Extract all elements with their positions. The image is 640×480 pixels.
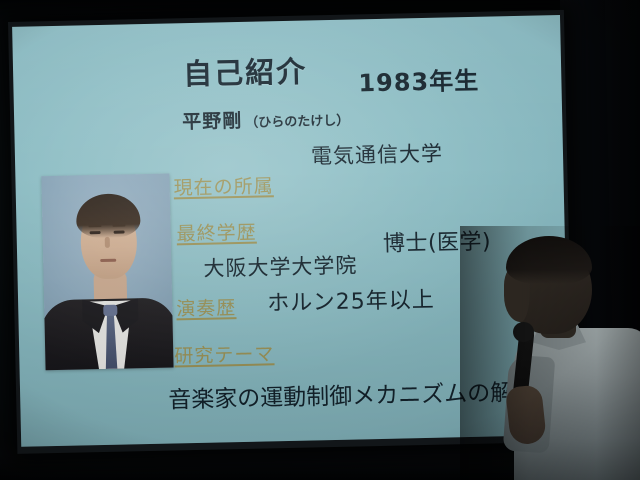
microphone-head: [513, 322, 534, 342]
education-label: 最終学歴: [176, 218, 257, 247]
name-ruby-reading: （ひらのたけし）: [245, 110, 349, 131]
affiliation-value: 電気通信大学: [311, 138, 444, 171]
performance-label: 演奏歴: [176, 293, 237, 321]
presenter-hair: [506, 236, 592, 284]
research-label: 研究テーマ: [174, 339, 275, 368]
presenter-name-row: 平野剛 （ひらのたけし）: [182, 104, 350, 135]
presentation-photo-scene: 自己紹介 1983年生 平野剛 （ひらのたけし） 現在の所属 電気通信大学 最終…: [0, 0, 640, 480]
portrait-eye-right: [114, 231, 125, 234]
portrait-nose: [105, 237, 110, 248]
birth-year-text: 1983年生: [358, 61, 480, 99]
portrait-eye-left: [90, 231, 101, 234]
portrait-photo: [41, 174, 173, 371]
portrait-mouth: [100, 259, 116, 262]
presenter-silhouette: [470, 236, 640, 480]
name-kanji: 平野剛: [182, 106, 243, 134]
portrait-eyebrow-left: [88, 225, 101, 227]
performance-value: ホルン25年以上: [267, 282, 435, 318]
slide-title: 自己紹介: [183, 48, 308, 93]
education-school: 大阪大学大学院: [203, 249, 358, 282]
portrait-tie-knot: [103, 305, 117, 316]
portrait-eyebrow-right: [112, 224, 125, 226]
affiliation-label: 現在の所属: [173, 171, 274, 200]
